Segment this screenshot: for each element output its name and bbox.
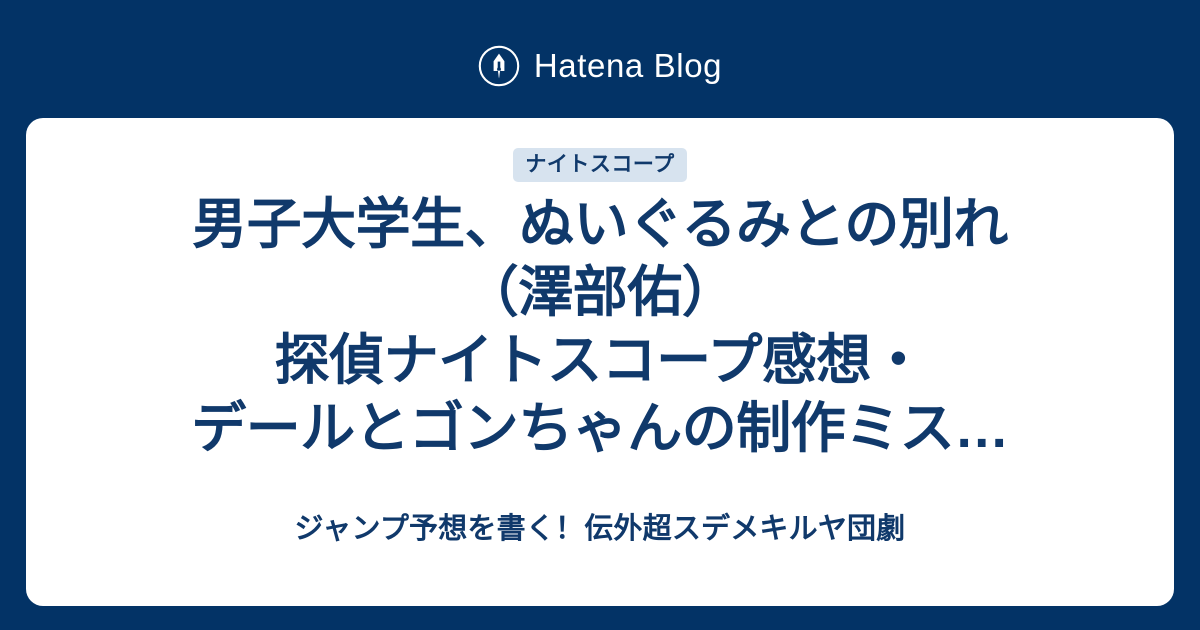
entry-title-line: 男子大学生、ぬいぐるみとの別れ xyxy=(100,190,1100,258)
entry-title-line: 探偵ナイトスコープ感想・ xyxy=(100,326,1100,394)
entry-title: 男子大学生、ぬいぐるみとの別れ （澤部佑） 探偵ナイトスコープ感想・ デールとゴ… xyxy=(100,190,1100,462)
entry-title-line: デールとゴンちゃんの制作ミス… xyxy=(100,394,1100,462)
hatena-pen-nib-icon xyxy=(478,45,520,87)
entry-card-panel: ナイトスコープ 男子大学生、ぬいぐるみとの別れ （澤部佑） 探偵ナイトスコープ感… xyxy=(26,118,1174,606)
tag-row: ナイトスコープ xyxy=(513,148,686,182)
brand-name: Hatena Blog xyxy=(534,45,722,87)
entry-title-line: （澤部佑） xyxy=(100,258,1100,326)
hatena-logo xyxy=(478,45,520,87)
category-tag[interactable]: ナイトスコープ xyxy=(513,148,686,182)
hatena-blog-og-card: Hatena Blog ナイトスコープ 男子大学生、ぬいぐるみとの別れ （澤部佑… xyxy=(0,0,1200,630)
entry-card-content: ナイトスコープ 男子大学生、ぬいぐるみとの別れ （澤部佑） 探偵ナイトスコープ感… xyxy=(26,118,1174,606)
blog-name: ジャンプ予想を書く！伝外超スデメキルヤ団劇 xyxy=(26,510,1174,548)
brand-header: Hatena Blog xyxy=(0,38,1200,94)
